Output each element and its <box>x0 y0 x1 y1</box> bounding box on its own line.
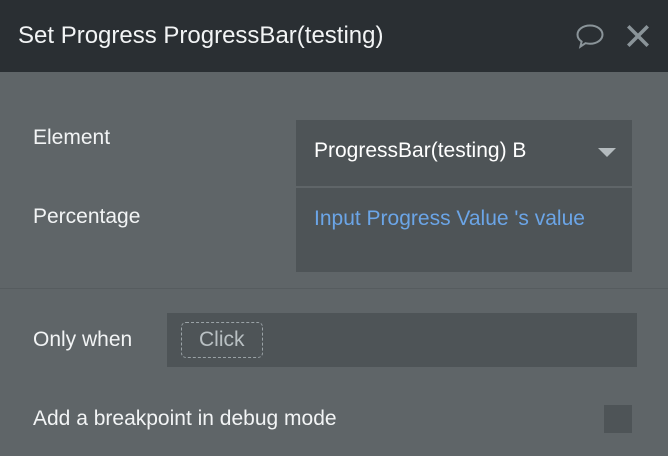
chevron-down-icon <box>598 148 616 157</box>
only-when-input[interactable]: Click <box>167 313 637 367</box>
row-breakpoint: Add a breakpoint in debug mode <box>33 405 632 433</box>
click-placeholder-chip[interactable]: Click <box>181 322 263 358</box>
panel-header: Set Progress ProgressBar(testing) <box>0 0 668 72</box>
only-when-label: Only when <box>33 313 167 367</box>
element-label: Element <box>33 120 296 156</box>
section-divider <box>0 288 668 289</box>
header-actions <box>574 20 654 52</box>
breakpoint-checkbox[interactable] <box>604 405 632 433</box>
row-percentage: Percentage Input Progress Value 's value <box>33 188 632 272</box>
speech-bubble-icon[interactable] <box>574 20 606 52</box>
action-editor-panel: Set Progress ProgressBar(testing) Elemen… <box>0 0 668 456</box>
row-element: Element ProgressBar(testing) B <box>33 120 632 186</box>
element-dropdown[interactable]: ProgressBar(testing) B <box>296 120 632 186</box>
breakpoint-label: Add a breakpoint in debug mode <box>33 406 337 432</box>
element-dropdown-value: ProgressBar(testing) B <box>314 136 586 166</box>
page-title: Set Progress ProgressBar(testing) <box>18 21 448 51</box>
close-icon[interactable] <box>622 20 654 52</box>
percentage-label: Percentage <box>33 188 296 246</box>
percentage-input[interactable]: Input Progress Value 's value <box>296 188 632 272</box>
row-only-when: Only when Click <box>33 313 637 367</box>
